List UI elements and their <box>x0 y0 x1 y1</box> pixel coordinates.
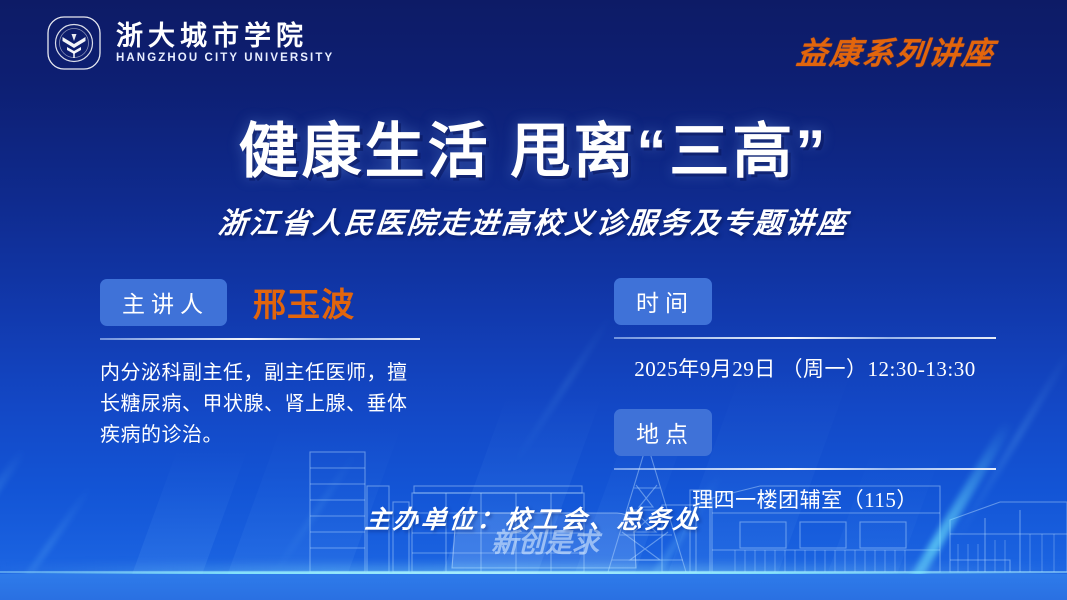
speaker-name: 邢玉波 <box>253 278 355 326</box>
poster-canvas: 新创是求 浙大城市学 <box>0 0 1067 600</box>
bottom-band <box>0 574 1067 600</box>
event-details-section: 时间 2025年9月29日 （周一）12:30-13:30 地点 理四一楼团辅室… <box>614 278 996 514</box>
speaker-section: 主讲人 邢玉波 内分泌科副主任，副主任医师，擅长糖尿病、甲状腺、肾上腺、垂体疾病… <box>100 278 420 451</box>
series-label: 益康系列讲座 <box>795 28 998 73</box>
speaker-badge: 主讲人 <box>100 279 227 326</box>
bottom-glow-line <box>0 572 1067 575</box>
university-name-cn: 浙大城市学院 <box>116 22 334 50</box>
speaker-bio: 内分泌科副主任，副主任医师，擅长糖尿病、甲状腺、肾上腺、垂体疾病的诊治。 <box>100 358 420 451</box>
university-name-en: HANGZHOU CITY UNIVERSITY <box>116 52 334 64</box>
speaker-divider <box>100 338 420 340</box>
bottom-glow-blur <box>0 566 1067 578</box>
place-block: 地点 理四一楼团辅室（115） <box>614 409 996 514</box>
page-subtitle: 浙江省人民医院走进高校义诊服务及专题讲座 <box>0 200 1067 242</box>
light-wedge <box>433 395 603 600</box>
time-value: 2025年9月29日 （周一）12:30-13:30 <box>614 353 996 383</box>
time-divider <box>614 337 996 339</box>
light-ray <box>511 313 613 467</box>
organizer-line: 主办单位：校工会、总务处 <box>0 500 1067 536</box>
place-divider <box>614 468 996 470</box>
university-emblem-icon <box>45 14 103 72</box>
brand-header: 浙大城市学院 HANGZHOU CITY UNIVERSITY <box>45 14 334 72</box>
time-badge: 时间 <box>614 278 712 325</box>
time-block: 时间 2025年9月29日 （周一）12:30-13:30 <box>614 278 996 383</box>
place-badge: 地点 <box>614 409 712 456</box>
page-title: 健康生活 甩离“三高” <box>0 103 1067 190</box>
speaker-row: 主讲人 邢玉波 <box>100 278 420 326</box>
